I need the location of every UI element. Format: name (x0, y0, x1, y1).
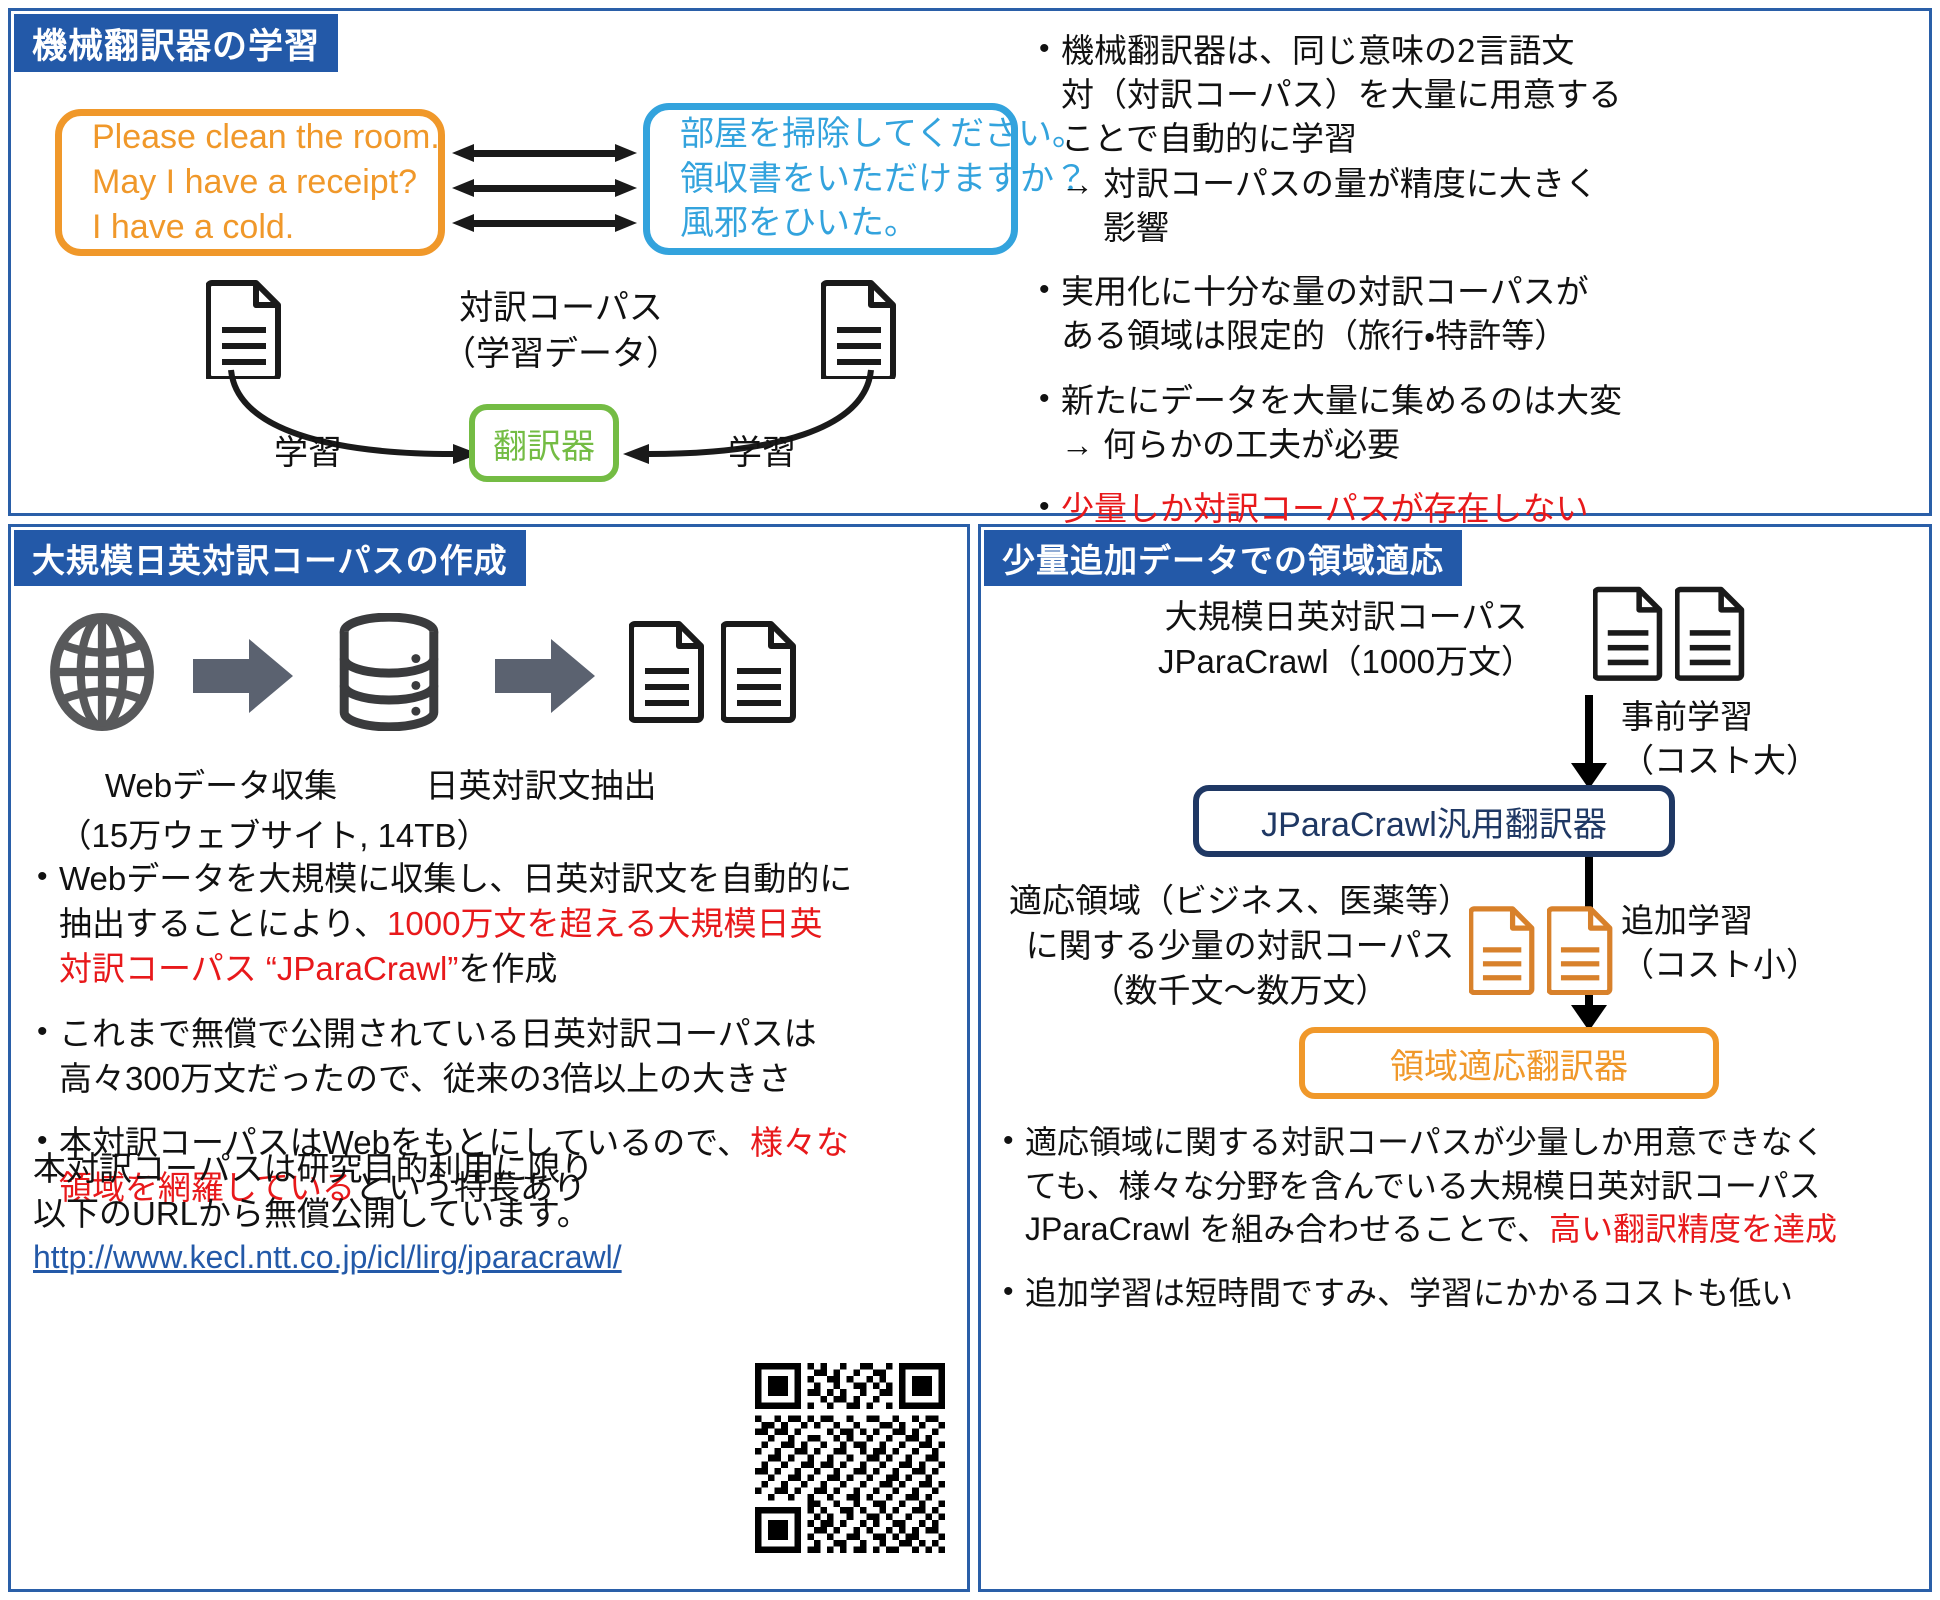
bullet-line: 対（対訳コーパス）を大量に用意する (1061, 73, 1919, 117)
bullet-seg: 高々300万文だったので、従来の3倍以上の大きさ (59, 1057, 942, 1102)
release-note: 本対訳コーパスは研究目的利用に限り 以下のURLから無償公開しています。 (33, 1147, 653, 1237)
document-icon-adapt-2 (1547, 903, 1615, 995)
bullet-seg: 適応領域に関する対訳コーパスが少量しか用意できなく (1025, 1121, 1915, 1165)
right-arrow-icon-1 (193, 633, 295, 719)
bullet-dot: • (1039, 29, 1061, 250)
learn-label-right: 学習 (728, 425, 796, 474)
translator-box: 翻訳器 (469, 404, 619, 482)
adaptation-corpus-label: 適応領域（ビジネス、医薬等） に関する少量の対訳コーパス （数千文～数万文） (1005, 879, 1475, 1014)
adaptation-corpus-line-1: 適応領域（ビジネス、医薬等） (1005, 879, 1475, 924)
bullet-item: • 機械翻訳器は、同じ意味の2言語文 対（対訳コーパス）を大量に用意する ことで… (1039, 29, 1919, 250)
bullet-arrow-line: → 何らかの工夫が必要 (1061, 423, 1919, 467)
bullet-seg-highlight: 様々な (750, 1124, 849, 1161)
document-icon-2 (721, 611, 799, 729)
right-arrow-icon-2 (495, 633, 597, 719)
panel-machine-translation-training: Please clean the room. May I have a rece… (8, 8, 1932, 516)
document-icon-corpus-2 (1675, 583, 1747, 681)
pretrain-label: 事前学習 （コスト大） (1621, 695, 1819, 782)
flow-caption-scale: （15万ウェブサイト, 14TB） (39, 809, 509, 857)
bullet-line: 機械翻訳器は、同じ意味の2言語文 (1061, 29, 1919, 73)
bullet-seg: これまで無償で公開されている日英対訳コーパスは (59, 1012, 942, 1057)
english-line-1: Please clean the room. (92, 115, 408, 160)
parallel-corpus-label: 対訳コーパス （学習データ） (431, 286, 691, 378)
english-line-2: May I have a receipt? (92, 160, 408, 205)
document-icon-adapt-1 (1469, 903, 1537, 995)
bullet-line: 新たにデータを大量に集めるのは大変 (1061, 379, 1919, 423)
bidirectional-arrow-icon-3 (452, 214, 637, 232)
large-corpus-label: 大規模日英対訳コーパス JParaCrawl（1000万文） (1101, 595, 1591, 684)
globe-icon (43, 613, 161, 731)
bullet-item: • これまで無償で公開されている日英対訳コーパスは 高々300万文だったので、従… (37, 1012, 942, 1102)
bullet-seg: ても、様々な分野を含んでいる大規模日英対訳コーパス (1025, 1165, 1915, 1209)
bullet-seg: 追加学習は短時間ですみ、学習にかかるコストも低い (1025, 1272, 1915, 1316)
bullet-seg-highlight: 高い翻訳精度を達成 (1549, 1211, 1837, 1247)
bullet-item: • 新たにデータを大量に集めるのは大変 → 何らかの工夫が必要 (1039, 379, 1919, 467)
release-note-line-2: 以下のURLから無償公開しています。 (33, 1192, 653, 1237)
database-icon (333, 613, 445, 731)
corpus-label-line-1: 対訳コーパス (431, 286, 691, 332)
corpus-label-line-2: （学習データ） (431, 332, 691, 378)
japanese-line-2: 領収書をいただけますか？ (680, 157, 981, 202)
bullet-line: ある領域は限定的（旅行・特許等） (1061, 314, 1919, 358)
bullet-seg: を作成 (458, 950, 557, 987)
bullet-seg: 抽出することにより、 (59, 905, 387, 942)
qr-code[interactable] (755, 1363, 945, 1553)
bullet-dot: • (37, 1012, 59, 1102)
jparacrawl-generic-translator-box: JParaCrawl汎用翻訳器 (1193, 785, 1675, 857)
bullet-dot: • (1039, 379, 1061, 467)
bullet-arrow-line: 影響 (1061, 206, 1919, 250)
finetune-label: 追加学習 （コスト小） (1621, 899, 1819, 986)
jparacrawl-url-link[interactable]: http://www.kecl.ntt.co.jp/icl/lirg/jpara… (33, 1239, 622, 1276)
domain-adapted-translator-box: 領域適応翻訳器 (1299, 1027, 1719, 1099)
bullet-seg-highlight: 対訳コーパス “JParaCrawl” (59, 950, 458, 987)
english-sentences-bubble: Please clean the room. May I have a rece… (55, 109, 445, 256)
panel-corpus-creation: Webデータ収集 日英対訳文抽出 （15万ウェブサイト, 14TB） • Web… (8, 524, 970, 1592)
flow-caption-web-collection: Webデータ収集 (71, 759, 371, 807)
bullet-item: • 追加学習は短時間ですみ、学習にかかるコストも低い (1003, 1272, 1915, 1316)
bullet-seg: JParaCrawl を組み合わせることで、 (1025, 1211, 1549, 1247)
bidirectional-arrow-icon-2 (452, 179, 637, 197)
panel-title-bottom-left: 大規模日英対訳コーパスの作成 (14, 530, 526, 586)
adaptation-corpus-line-3: （数千文～数万文） (1005, 969, 1475, 1014)
finetune-label-line-2: （コスト小） (1621, 943, 1819, 987)
document-icon-left (206, 279, 284, 379)
finetune-label-line-1: 追加学習 (1621, 899, 1819, 943)
bullet-dot: • (1003, 1121, 1025, 1252)
bullet-dot: • (37, 857, 59, 992)
english-line-3: I have a cold. (92, 205, 408, 250)
bullet-item: • Webデータを大規模に収集し、日英対訳文を自動的に 抽出することにより、10… (37, 857, 942, 992)
learn-label-left: 学習 (274, 425, 342, 474)
bullet-arrow-line: → 対訳コーパスの量が精度に大きく (1061, 162, 1919, 206)
bullet-item: • 適応領域に関する対訳コーパスが少量しか用意できなく ても、様々な分野を含んで… (1003, 1121, 1915, 1252)
panel-domain-adaptation: 大規模日英対訳コーパス JParaCrawl（1000万文） 事前学習 （コスト… (978, 524, 1932, 1592)
bullet-line: ことで自動的に学習 (1061, 117, 1919, 161)
japanese-line-3: 風邪をひいた。 (680, 201, 981, 246)
bullet-seg: Webデータを大規模に収集し、日英対訳文を自動的に (59, 860, 852, 897)
panel-title-top: 機械翻訳器の学習 (14, 14, 338, 72)
bidirectional-arrow-icon-1 (452, 144, 637, 162)
pretrain-label-line-2: （コスト大） (1621, 739, 1819, 783)
large-corpus-line-2: JParaCrawl（1000万文） (1101, 640, 1591, 685)
pretrain-label-line-1: 事前学習 (1621, 695, 1819, 739)
flow-caption-sentence-extraction: 日英対訳文抽出 (391, 759, 691, 807)
bullet-item: • 実用化に十分な量の対訳コーパスが ある領域は限定的（旅行・特許等） (1039, 270, 1919, 358)
corpus-creation-flow (33, 605, 793, 745)
large-corpus-line-1: 大規模日英対訳コーパス (1101, 595, 1591, 640)
bullet-seg-highlight: 1000万文を超える大規模日英 (387, 905, 822, 942)
bullet-dot: • (1003, 1272, 1025, 1316)
panel-title-bottom-right: 少量追加データでの領域適応 (984, 530, 1462, 586)
document-icon-1 (629, 611, 707, 729)
top-bullet-list: • 機械翻訳器は、同じ意味の2言語文 対（対訳コーパス）を大量に用意する ことで… (1039, 29, 1919, 595)
adaptation-corpus-line-2: に関する少量の対訳コーパス (1005, 924, 1475, 969)
document-icon-right (821, 279, 899, 379)
bullet-dot: • (1039, 270, 1061, 358)
pretrain-arrow-shaft (1585, 695, 1593, 767)
japanese-line-1: 部屋を掃除してください。 (680, 112, 981, 157)
bullet-line: 実用化に十分な量の対訳コーパスが (1061, 270, 1919, 314)
japanese-sentences-bubble: 部屋を掃除してください。 領収書をいただけますか？ 風邪をひいた。 (643, 103, 1018, 255)
bottom-right-bullet-list: • 適応領域に関する対訳コーパスが少量しか用意できなく ても、様々な分野を含んで… (1003, 1121, 1915, 1335)
release-note-line-1: 本対訳コーパスは研究目的利用に限り (33, 1147, 653, 1192)
document-icon-corpus-1 (1593, 583, 1665, 681)
